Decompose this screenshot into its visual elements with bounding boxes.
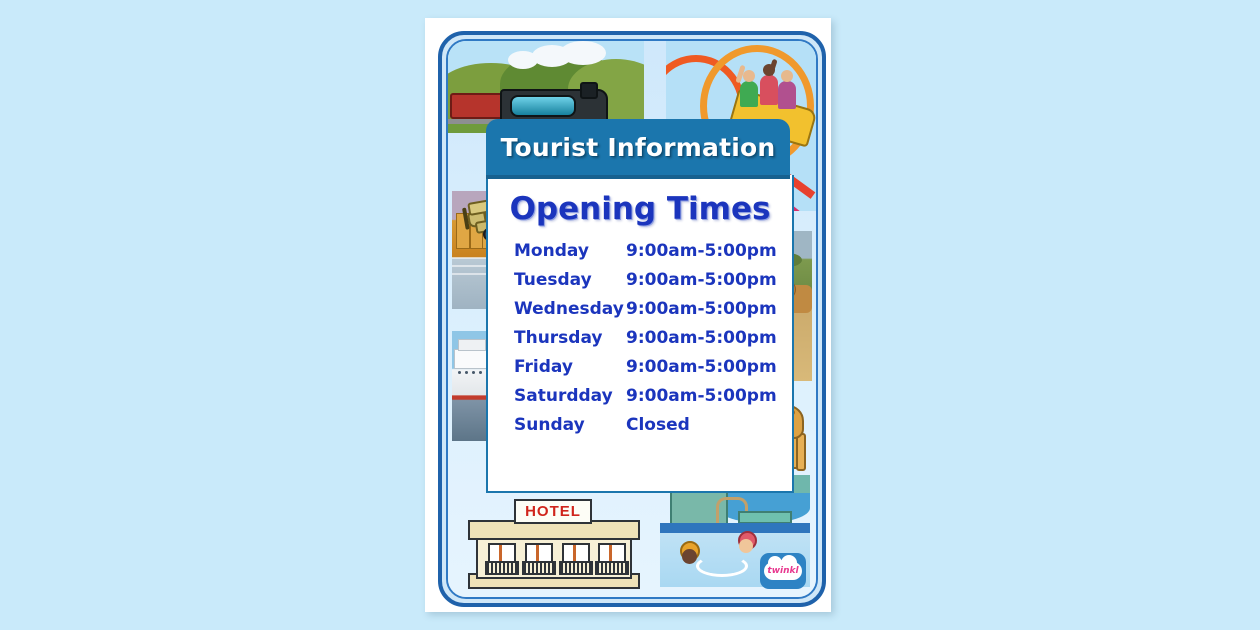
twinkl-logo: twinkl [760, 553, 806, 589]
banner-title: Tourist Information [501, 133, 776, 162]
hotel-sign-label: HOTEL [525, 503, 581, 520]
cloud-icon: twinkl [764, 562, 802, 580]
opening-times-list: Monday 9:00am-5:00pm Tuesday 9:00am-5:00… [488, 241, 792, 435]
screenshot-canvas: HOTEL Tourist Information [0, 0, 1260, 630]
page-title: Opening Times [488, 191, 792, 227]
time-value: 9:00am-5:00pm [626, 270, 777, 290]
list-item: Monday 9:00am-5:00pm [514, 241, 792, 261]
list-item: Saturdday 9:00am-5:00pm [514, 386, 792, 406]
poster-frame-inner: HOTEL Tourist Information [446, 39, 818, 599]
day-label: Wednesday [514, 299, 626, 319]
time-value: 9:00am-5:00pm [626, 328, 777, 348]
day-label: Sunday [514, 415, 626, 435]
opening-times-card: Opening Times Monday 9:00am-5:00pm Tuesd… [486, 175, 794, 493]
time-value: 9:00am-5:00pm [626, 241, 777, 261]
list-item: Thursday 9:00am-5:00pm [514, 328, 792, 348]
day-label: Thursday [514, 328, 626, 348]
hotel-sign: HOTEL [514, 499, 592, 524]
time-value: 9:00am-5:00pm [626, 386, 777, 406]
hotel-illustration: HOTEL [468, 501, 636, 585]
twinkl-wordmark: twinkl [767, 566, 798, 576]
day-label: Friday [514, 357, 626, 377]
day-label: Tuesday [514, 270, 626, 290]
time-value: Closed [626, 415, 690, 435]
list-item: Tuesday 9:00am-5:00pm [514, 270, 792, 290]
list-item: Wednesday 9:00am-5:00pm [514, 299, 792, 319]
poster-frame: HOTEL Tourist Information [438, 31, 826, 607]
time-value: 9:00am-5:00pm [626, 299, 777, 319]
time-value: 9:00am-5:00pm [626, 357, 777, 377]
day-label: Saturdday [514, 386, 626, 406]
tourist-information-banner: Tourist Information [486, 119, 790, 179]
list-item: Sunday Closed [514, 415, 792, 435]
list-item: Friday 9:00am-5:00pm [514, 357, 792, 377]
day-label: Monday [514, 241, 626, 261]
